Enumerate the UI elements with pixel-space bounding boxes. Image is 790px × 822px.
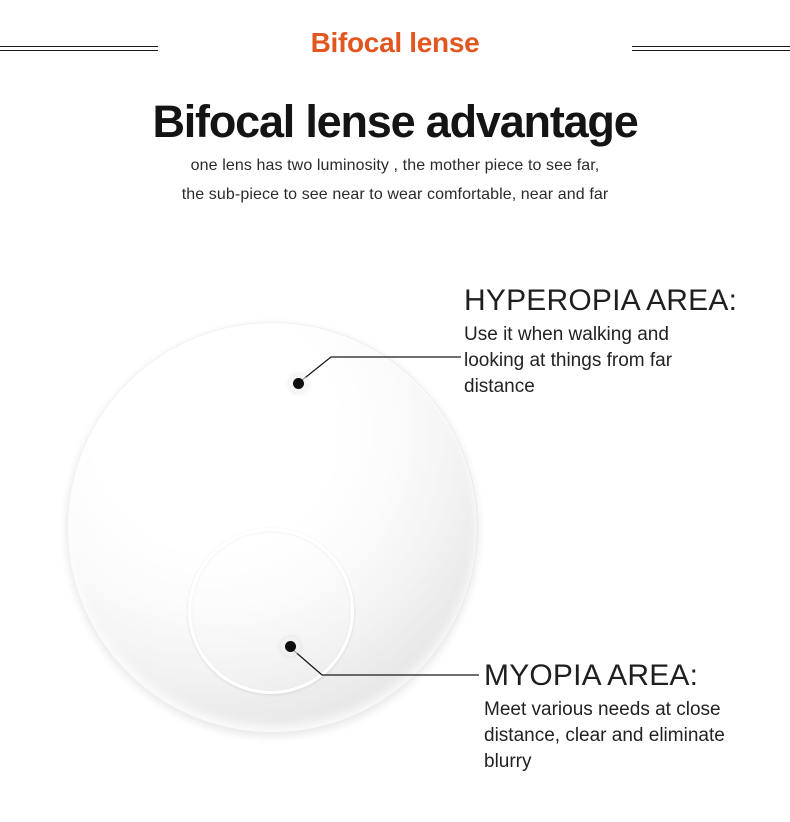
callout-hyperopia: HYPEROPIA AREA: Use it when walking and … (464, 284, 737, 400)
callout-myopia-body-line-2: distance, clear and eliminate (484, 723, 725, 749)
callout-myopia-body: Meet various needs at close distance, cl… (484, 697, 725, 776)
callout-myopia-body-line-3: blurry (484, 749, 725, 775)
callout-hyperopia-body-line-3: distance (464, 374, 737, 400)
page-title: Bifocal lense advantage (0, 96, 790, 148)
callout-myopia-body-line-1: Meet various needs at close (484, 697, 725, 723)
callout-dot-hyperopia (293, 378, 304, 389)
subtitle-line-2: the sub-piece to see near to wear comfor… (0, 186, 790, 204)
callout-dot-myopia (285, 641, 296, 652)
callout-hyperopia-title: HYPEROPIA AREA: (464, 284, 737, 318)
callout-hyperopia-body: Use it when walking and looking at thing… (464, 322, 737, 401)
header-rule-right (632, 46, 790, 52)
callout-myopia: MYOPIA AREA: Meet various needs at close… (484, 659, 725, 775)
callout-hyperopia-body-line-2: looking at things from far (464, 348, 737, 374)
bifocal-lens-infographic: Bifocal lense Bifocal lense advantage on… (0, 0, 790, 822)
header-rule-right-line-2 (632, 50, 790, 51)
bifocal-lens-illustration (55, 310, 495, 750)
header-rule-right-line-1 (632, 46, 790, 47)
subtitle-line-1: one lens has two luminosity , the mother… (0, 157, 790, 175)
header-band: Bifocal lense (0, 0, 790, 88)
header-title: Bifocal lense (0, 26, 790, 60)
callout-myopia-title: MYOPIA AREA: (484, 659, 725, 693)
callout-hyperopia-body-line-1: Use it when walking and (464, 322, 737, 348)
lens-near-vision-segment (188, 528, 354, 694)
